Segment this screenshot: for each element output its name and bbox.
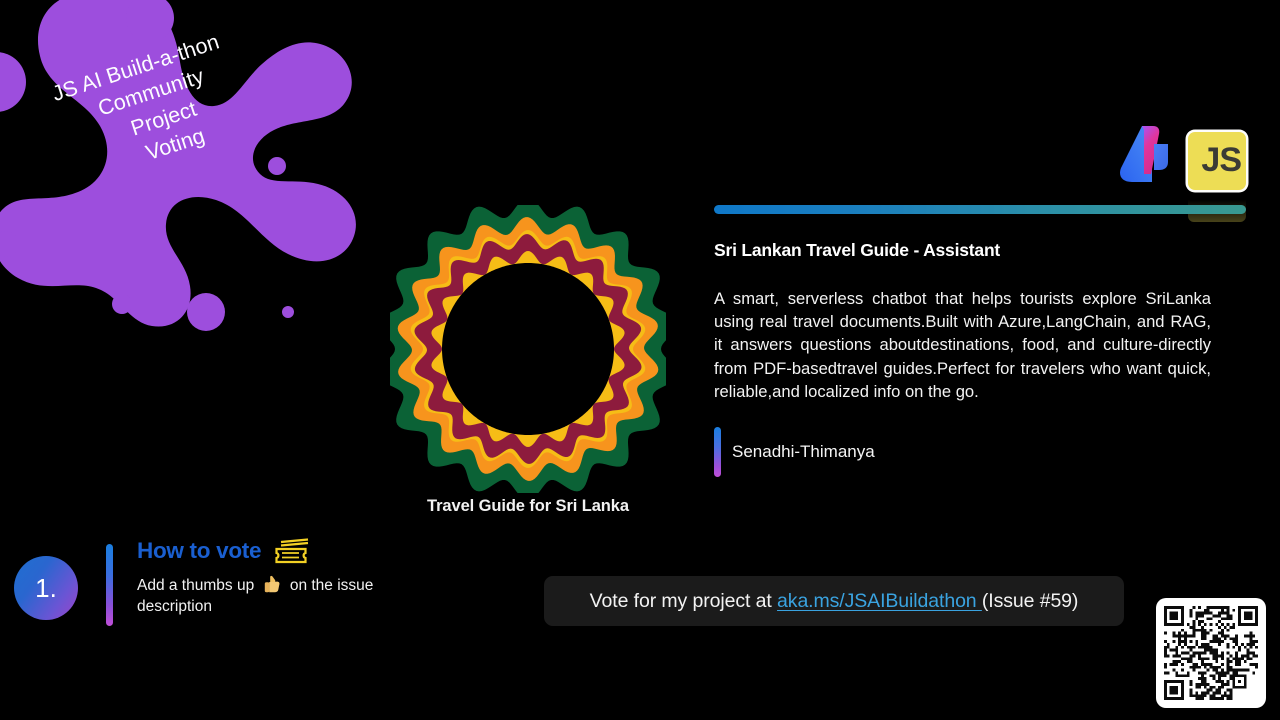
how-to-vote-instruction: Add a thumbs up on the issue description xyxy=(137,575,399,617)
author-accent-bar xyxy=(714,427,721,477)
logo-row: JS xyxy=(1118,118,1246,190)
project-emblem-block: Travel Guide for Sri Lanka xyxy=(384,205,672,516)
slide-root: JS AI Build-a-thon Community Project Vot… xyxy=(0,0,1280,720)
project-accent-bar xyxy=(714,205,1246,214)
javascript-logo-label: JS xyxy=(1201,143,1246,179)
how-to-vote-accent-bar xyxy=(106,544,113,626)
emblem-caption: Travel Guide for Sri Lanka xyxy=(384,497,672,516)
sri-lanka-emblem-icon xyxy=(390,205,666,493)
azure-ai-foundry-logo xyxy=(1118,118,1176,190)
javascript-logo: JS xyxy=(1188,132,1246,190)
thumbs-up-icon xyxy=(264,575,281,593)
project-card: Sri Lankan Travel Guide - Assistant A sm… xyxy=(714,205,1212,477)
event-splat-graphic: JS AI Build-a-thon Community Project Vot… xyxy=(0,0,360,354)
how-to-vote-heading: How to vote xyxy=(137,538,261,564)
project-author-row: Senadhi-Thimanya xyxy=(714,427,1212,477)
project-title: Sri Lankan Travel Guide - Assistant xyxy=(714,240,1212,261)
how-to-vote-instruction-before: Add a thumbs up xyxy=(137,577,254,594)
ticket-icon xyxy=(273,538,311,564)
how-to-vote-text: How to vote Add a thumbs up xyxy=(137,538,399,617)
vote-cta-prefix: Vote for my project at xyxy=(590,590,777,613)
project-author: Senadhi-Thimanya xyxy=(732,442,875,462)
vote-cta-suffix: (Issue #59) xyxy=(982,590,1078,613)
how-to-vote-heading-row: How to vote xyxy=(137,538,399,564)
step-number-badge: 1. xyxy=(14,556,78,620)
vote-cta-link[interactable]: aka.ms/JSAIBuildathon xyxy=(777,590,982,613)
project-description: A smart, serverless chatbot that helps t… xyxy=(714,287,1211,403)
vote-cta-banner[interactable]: Vote for my project at aka.ms/JSAIBuilda… xyxy=(544,576,1124,626)
qr-code[interactable] xyxy=(1156,598,1266,708)
how-to-vote-block: 1. How to vote xyxy=(14,538,399,626)
